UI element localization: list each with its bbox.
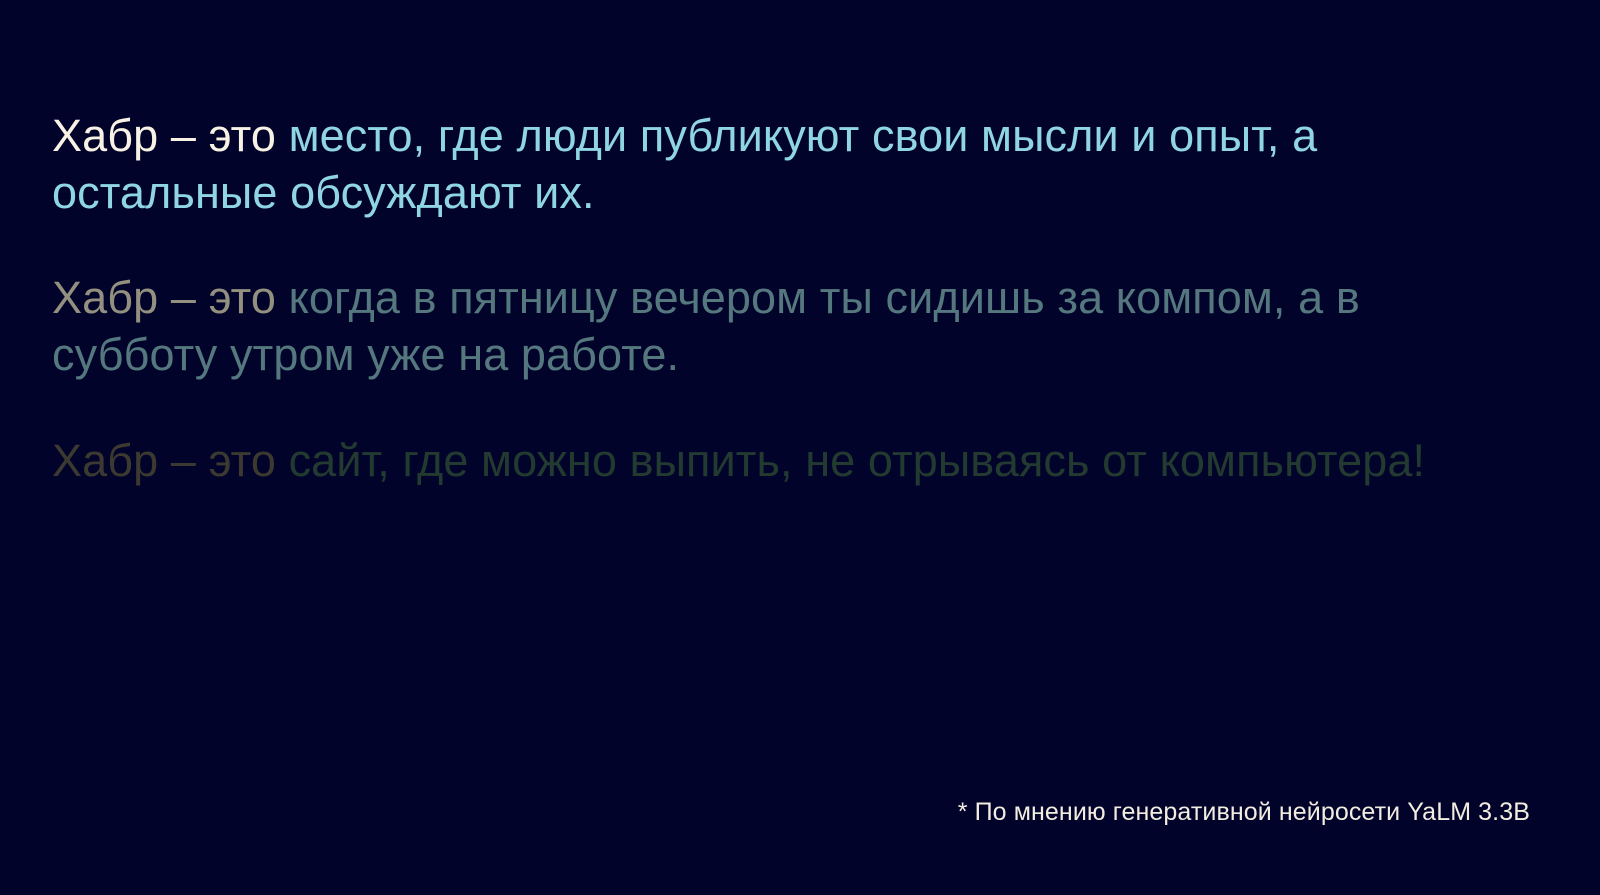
- quote-item-1: Хабр – это место, где люди публикуют сво…: [52, 108, 1522, 221]
- quote-lead-1: Хабр – это: [52, 110, 276, 161]
- quote-body-3: сайт, где можно выпить, не отрываясь от …: [276, 435, 1425, 486]
- quote-item-2: Хабр – это когда в пятницу вечером ты си…: [52, 270, 1522, 383]
- quote-lead-3: Хабр – это: [52, 435, 276, 486]
- slide-canvas: Хабр – это место, где люди публикуют сво…: [0, 0, 1600, 895]
- footnote-attribution: * По мнению генеративной нейросети YaLM …: [958, 797, 1530, 827]
- quote-lead-2: Хабр – это: [52, 272, 276, 323]
- quote-item-3: Хабр – это сайт, где можно выпить, не от…: [52, 433, 1522, 490]
- quote-list: Хабр – это место, где люди публикуют сво…: [52, 108, 1522, 489]
